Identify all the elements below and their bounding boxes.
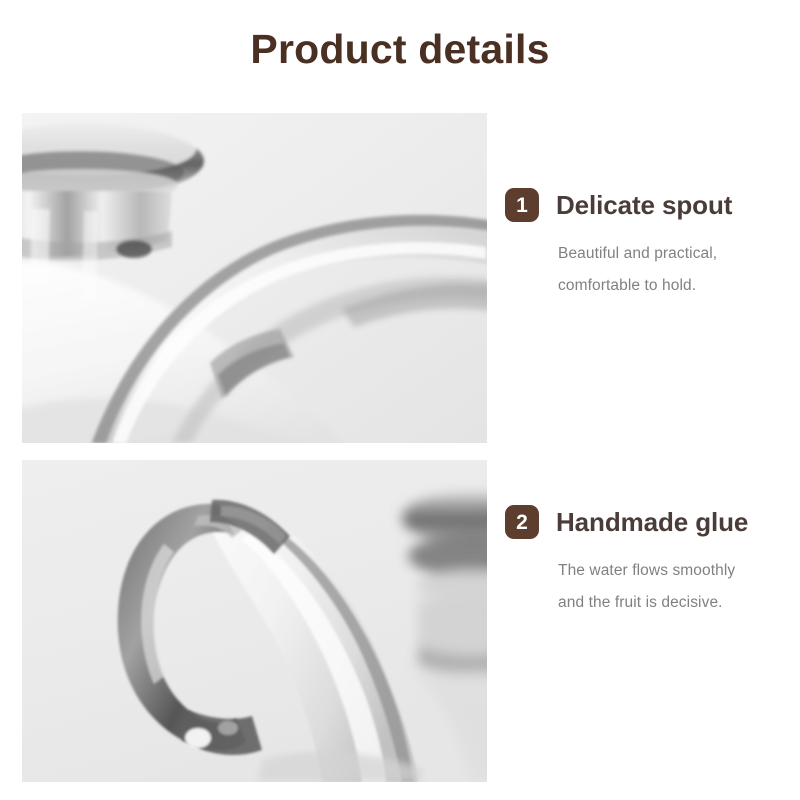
feature-row-2: 2 Handmade glue The water flows smoothly… [0, 460, 800, 782]
feature-description-1-line-1: Beautiful and practical, [558, 238, 795, 270]
feature-description-2-line-1: The water flows smoothly [558, 555, 795, 587]
feature-text-2: 2 Handmade glue The water flows smoothly… [505, 505, 795, 619]
feature-description-1: Beautiful and practical, comfortable to … [558, 238, 795, 302]
feature-description-2: The water flows smoothly and the fruit i… [558, 555, 795, 619]
feature-heading-1: 1 Delicate spout [505, 188, 795, 222]
product-details-page: Product details [0, 0, 800, 800]
product-photo-handle [22, 460, 487, 782]
feature-heading-2: 2 Handmade glue [505, 505, 795, 539]
feature-description-1-line-2: comfortable to hold. [558, 270, 795, 302]
product-photo-spout [22, 113, 487, 443]
feature-title-1: Delicate spout [556, 190, 732, 221]
feature-description-2-line-2: and the fruit is decisive. [558, 587, 795, 619]
page-title: Product details [0, 24, 800, 75]
feature-number-badge-2: 2 [505, 505, 539, 539]
feature-title-2: Handmade glue [556, 507, 748, 538]
feature-text-1: 1 Delicate spout Beautiful and practical… [505, 188, 795, 302]
feature-row-1: 1 Delicate spout Beautiful and practical… [0, 113, 800, 443]
feature-number-badge-1: 1 [505, 188, 539, 222]
